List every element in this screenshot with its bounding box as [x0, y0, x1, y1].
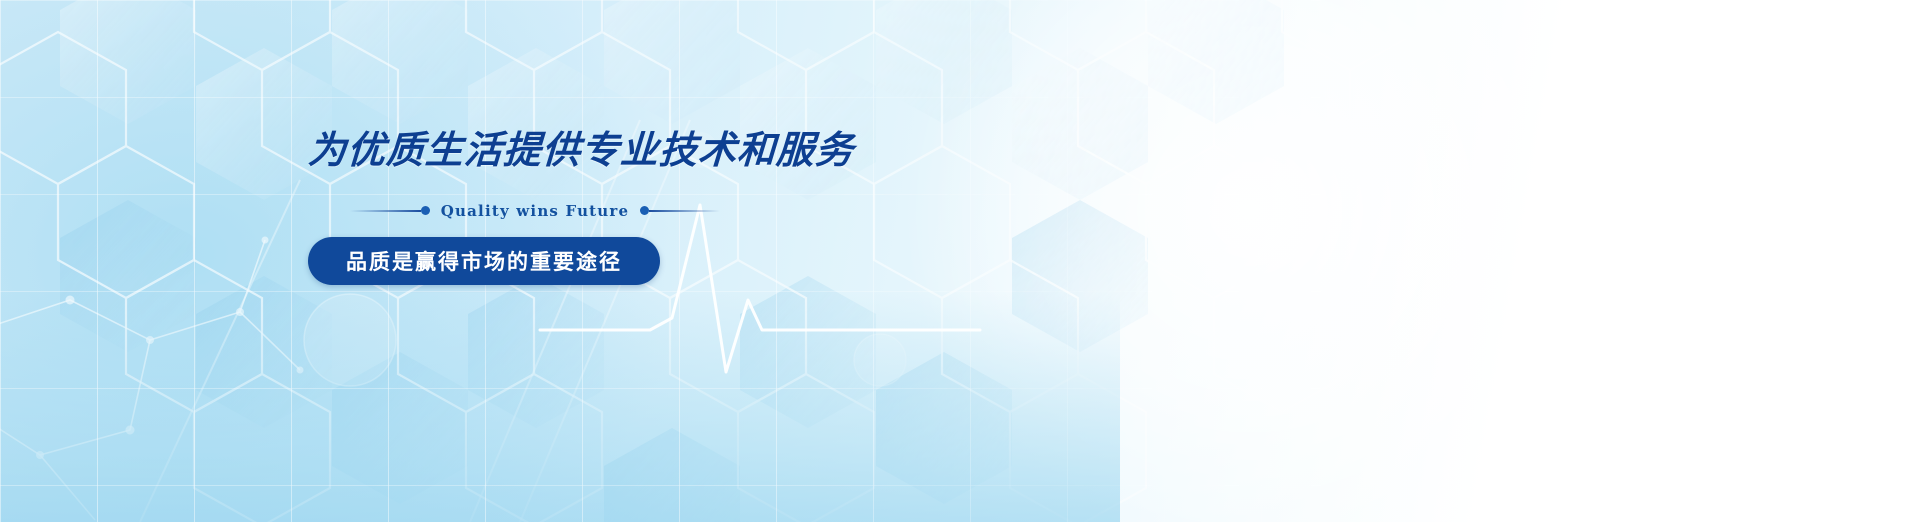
page-title: 为优质生活提供专业技术和服务 [307, 128, 929, 174]
banner-content: 为优质生活提供专业技术和服务 Quality wins Future 品质是赢得… [308, 128, 928, 285]
divider-rule-right [649, 210, 720, 212]
tagline-english: Quality wins Future [430, 202, 641, 220]
divider-dot-right-icon [640, 206, 649, 215]
divider-rule-left [350, 210, 421, 212]
doctor-photo [0, 0, 1920, 522]
hero-banner: 为优质生活提供专业技术和服务 Quality wins Future 品质是赢得… [0, 0, 1920, 522]
cta-button[interactable]: 品质是赢得市场的重要途径 [308, 237, 660, 285]
tagline-divider: Quality wins Future [350, 202, 720, 220]
divider-dot-left-icon [421, 206, 430, 215]
